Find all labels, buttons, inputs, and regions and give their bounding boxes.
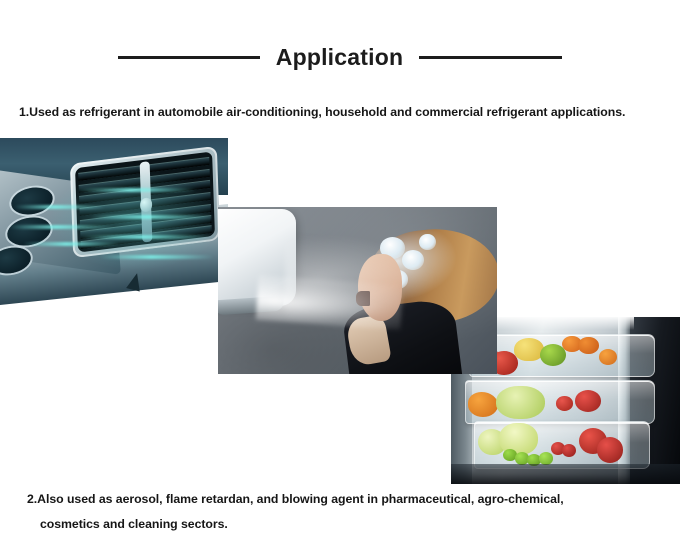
produce-cherry-tomato	[556, 396, 573, 410]
produce-orange	[578, 337, 598, 354]
application-item-2-line-2: cosmetics and cleaning sectors.	[40, 517, 228, 531]
application-item-1: 1.Used as refrigerant in automobile air-…	[19, 105, 625, 119]
produce-pepper	[468, 392, 498, 416]
airflow-stream	[82, 235, 214, 239]
airflow-stream	[100, 255, 214, 259]
airflow-stream	[9, 225, 114, 229]
produce-grape	[539, 452, 553, 464]
produce-cabbage	[496, 386, 545, 419]
airflow-stream	[23, 242, 119, 246]
produce-tangerine	[599, 349, 617, 365]
airflow-stream	[78, 188, 197, 192]
application-item-2-line-1: 2.Also used as aerosol, flame retardan, …	[27, 492, 564, 506]
fridge-drawer	[474, 421, 650, 470]
airflow-stream	[14, 205, 105, 209]
produce-apple	[597, 437, 623, 462]
fridge-drawer	[465, 380, 655, 424]
produce-tomato	[575, 390, 601, 412]
fridge-base-shadow	[451, 464, 680, 484]
photo-car-air-conditioning	[0, 138, 228, 305]
page-title: Application	[276, 44, 403, 71]
produce-lime	[540, 344, 566, 366]
produce-cherry	[562, 444, 576, 457]
produce-lemon	[514, 338, 543, 361]
fridge-drawer	[469, 334, 654, 378]
airflow-stream	[91, 215, 214, 219]
title-rule-left	[118, 56, 260, 59]
photo-cold-air-blast	[218, 207, 497, 374]
title-rule-right	[419, 56, 562, 59]
page-header: Application	[0, 34, 680, 80]
